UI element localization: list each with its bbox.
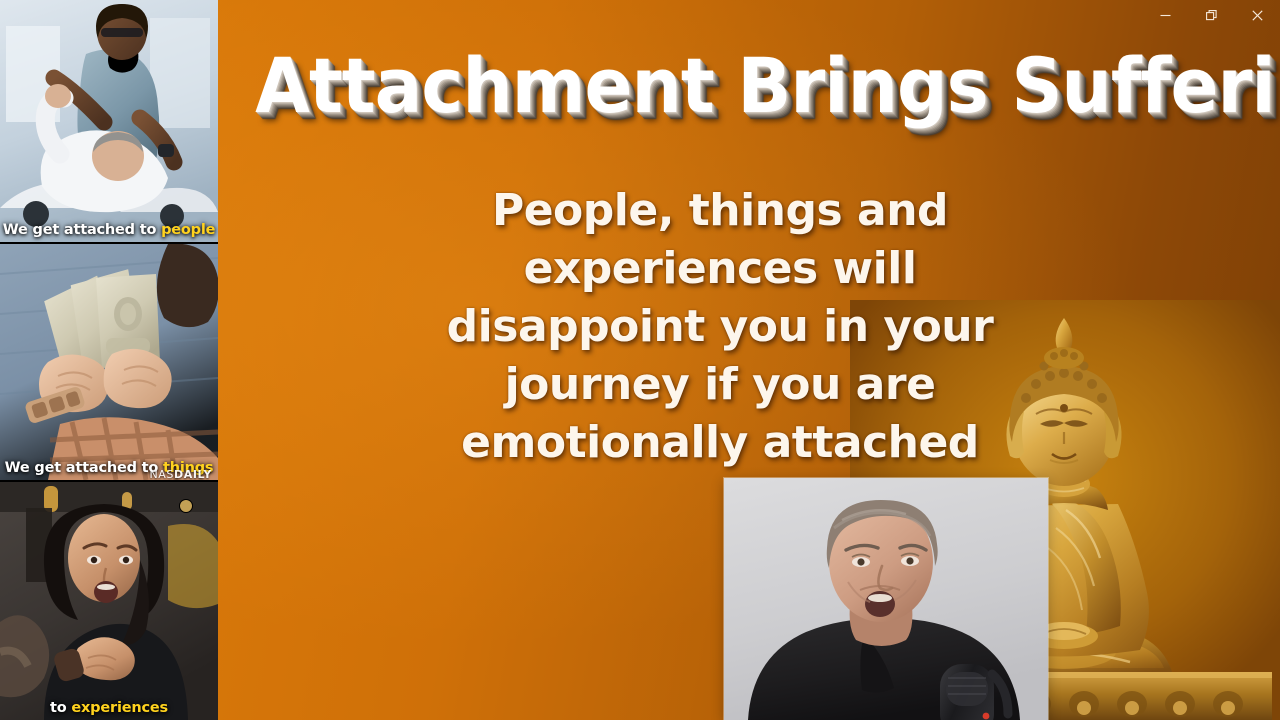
thumbnail-caption: We get attached to people [0, 221, 218, 239]
caption-highlight: people [161, 222, 215, 238]
close-button[interactable] [1234, 0, 1280, 30]
thumbnail-clip-things[interactable]: We get attached to things NASDAILY [0, 244, 218, 480]
presentation-window: Attachment Brings Suffering People, thin… [0, 0, 1280, 720]
nasdaily-watermark: NASDAILY [149, 468, 212, 480]
speaker-webcam-video[interactable] [724, 478, 1048, 720]
watermark-light: NAS [149, 468, 174, 480]
thumbnail-clip-people[interactable]: We get attached to people [0, 0, 218, 242]
window-controls [1142, 0, 1280, 30]
restore-icon [1206, 10, 1217, 21]
thumbnail-clip-experiences[interactable]: to experiences [0, 482, 218, 720]
slide-title: Attachment Brings Suffering [255, 44, 1243, 128]
watermark-bold: DAILY [174, 468, 212, 480]
slide-body-text: People, things and experiences will disa… [430, 182, 1010, 472]
minimize-icon [1160, 10, 1171, 21]
restore-button[interactable] [1188, 0, 1234, 30]
thumbnail-caption: to experiences [0, 699, 218, 717]
clip-thumbnail-sidebar: We get attached to people [0, 0, 218, 720]
minimize-button[interactable] [1142, 0, 1188, 30]
close-icon [1252, 10, 1263, 21]
caption-prefix: to [50, 700, 71, 716]
caption-prefix: We get attached to [3, 222, 161, 238]
caption-highlight: experiences [71, 700, 168, 716]
caption-prefix: We get attached to [5, 460, 163, 476]
